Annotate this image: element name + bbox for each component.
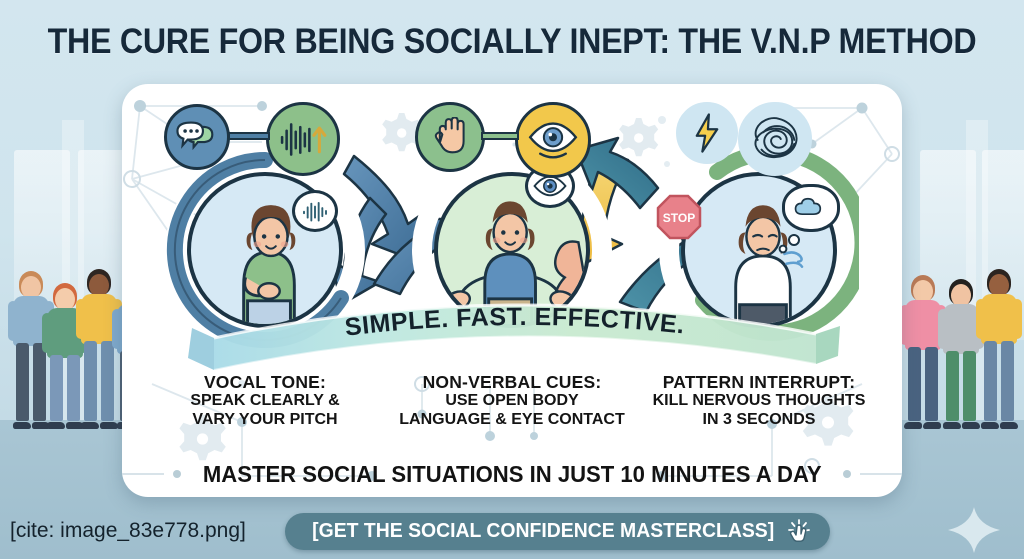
caption-line-3: VARY YOUR PITCH xyxy=(135,411,395,430)
person-arm xyxy=(938,309,948,349)
tagline-row: MASTER SOCIAL SITUATIONS IN JUST 10 MINU… xyxy=(122,454,902,494)
person-legs xyxy=(50,355,63,421)
stop-sign-label: STOP xyxy=(663,211,695,225)
panel-pattern-interrupt[interactable]: STOP xyxy=(634,102,884,362)
person-arm xyxy=(112,309,122,349)
caption-non-verbal-cues: NON-VERBAL CUES: USE OPEN BODY LANGUAGE … xyxy=(382,372,642,430)
cite-label: [cite: image_83e778.png] xyxy=(10,519,246,543)
caption-line-2: KILL NERVOUS THOUGHTS xyxy=(629,392,889,411)
open-palm-icon xyxy=(415,102,485,172)
caption-line-1: PATTERN INTERRUPT: xyxy=(629,372,889,392)
caption-line-1: VOCAL TONE: xyxy=(135,372,395,392)
person-shoe xyxy=(981,422,999,429)
person-legs xyxy=(16,343,29,421)
caption-line-3: IN 3 SECONDS xyxy=(629,411,889,430)
person-arm xyxy=(976,299,986,339)
waveform-bubble-icon xyxy=(292,190,338,232)
cloud-thought-icon xyxy=(782,184,840,232)
lightning-bolt-icon xyxy=(676,102,738,164)
badge-connector xyxy=(481,132,519,140)
caption-line-2: USE OPEN BODY xyxy=(382,392,642,411)
tagline-dot-right xyxy=(843,470,851,478)
person-shoe xyxy=(1000,422,1018,429)
person-arm xyxy=(1012,299,1022,339)
voice-waveform-up-icon xyxy=(266,102,340,176)
person-legs xyxy=(984,341,997,421)
tagline-rule-right xyxy=(860,473,902,475)
sparkle-icon xyxy=(944,505,1004,555)
person-shoe xyxy=(904,422,922,429)
person-shoe xyxy=(13,422,31,429)
person-legs xyxy=(84,341,97,421)
person-shoe xyxy=(81,422,99,429)
person-arm xyxy=(42,313,52,353)
tagline-dot-left xyxy=(173,470,181,478)
caption-line-2: SPEAK CLEARLY & xyxy=(135,392,395,411)
person-arm xyxy=(76,299,86,339)
person-shoe xyxy=(943,422,961,429)
person-legs xyxy=(963,351,976,421)
caption-line-1: NON-VERBAL CUES: xyxy=(382,372,642,392)
panel-vocal-tone[interactable] xyxy=(140,102,390,362)
caption-vocal-tone: VOCAL TONE: SPEAK CLEARLY & VARY YOUR PI… xyxy=(135,372,395,430)
page-title: THE CURE FOR BEING SOCIALLY INEPT: THE V… xyxy=(41,22,983,62)
tagline-rule-left xyxy=(122,473,164,475)
background-person xyxy=(976,269,1022,429)
person-legs xyxy=(908,347,921,421)
cta-button[interactable]: [GET THE SOCIAL CONFIDENCE MASTERCLASS] xyxy=(285,513,830,550)
person-legs xyxy=(1001,341,1014,421)
person-arm xyxy=(8,301,18,341)
caption-line-3: LANGUAGE & EYE CONTACT xyxy=(382,411,642,430)
speech-bubbles-icon xyxy=(164,104,230,170)
cta-label: [GET THE SOCIAL CONFIDENCE MASTERCLASS] xyxy=(312,520,774,543)
caption-pattern-interrupt: PATTERN INTERRUPT: KILL NERVOUS THOUGHTS… xyxy=(629,372,889,430)
tagline-text: MASTER SOCIAL SITUATIONS IN JUST 10 MINU… xyxy=(203,461,822,488)
tangled-thoughts-icon xyxy=(738,102,812,176)
thought-trail-icon xyxy=(774,234,804,256)
eye-contact-icon xyxy=(515,102,591,178)
person-legs xyxy=(925,347,938,421)
badge-connector xyxy=(228,132,270,140)
stop-sign-icon: STOP xyxy=(656,194,702,240)
person-shoe xyxy=(47,422,65,429)
person-legs xyxy=(946,351,959,421)
click-cursor-icon xyxy=(787,519,813,545)
infographic-card: STOP xyxy=(122,84,902,497)
panel-non-verbal-cues[interactable] xyxy=(387,102,637,362)
